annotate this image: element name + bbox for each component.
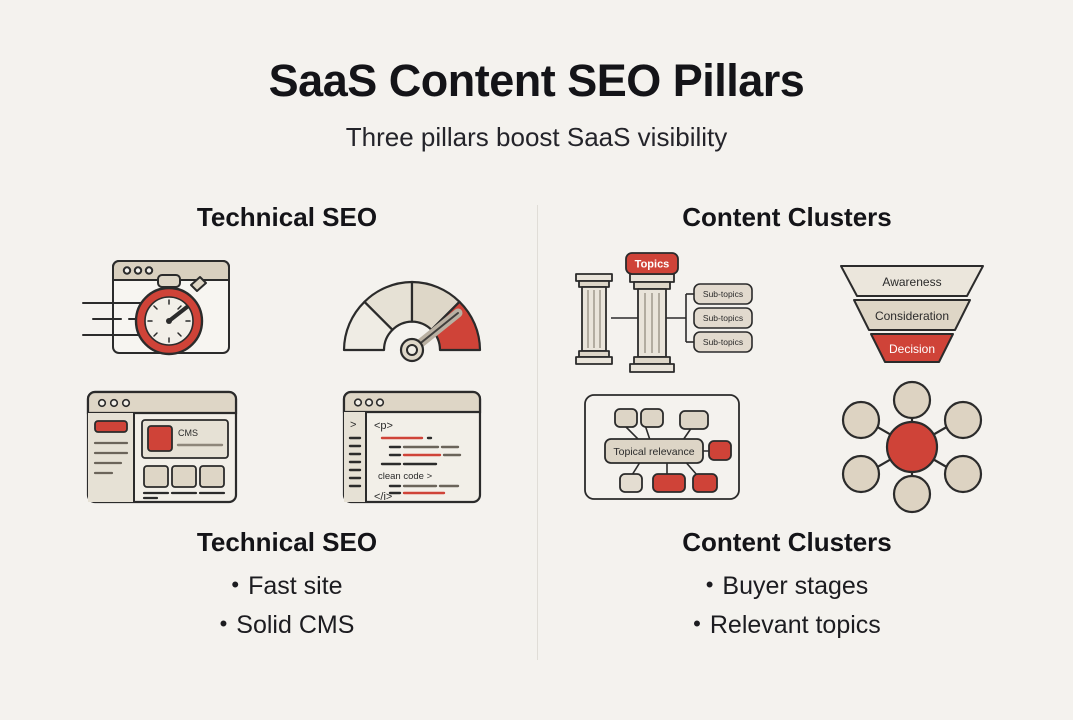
code-line-close-tag: </i> [374, 491, 392, 503]
topics-banner-label: Topics [635, 259, 670, 271]
bullet-list-right: Buyer stages Relevant topics [537, 566, 1037, 644]
illustration-hub-and-spoke-cluster [787, 384, 1037, 509]
illustration-grid-right: Topics Sub-topics Sub-topics Sub-topics [537, 248, 1037, 509]
bullet-item: Buyer stages [537, 566, 1037, 605]
infographic-canvas: SaaS Content SEO Pillars Three pillars b… [0, 0, 1073, 720]
code-line-open-tag: <p> [374, 420, 393, 432]
column-heading-right: Content Clusters [537, 200, 1037, 234]
sub-topic-label: Sub-topics [703, 289, 743, 299]
bullet-item: Solid CMS [37, 605, 537, 644]
illustration-page-speed-stopwatch [37, 248, 287, 378]
sub-topic-label: Sub-topics [703, 313, 743, 323]
column-footer-left: Technical SEO Fast site Solid CMS [37, 527, 537, 644]
bullet-item: Fast site [37, 566, 537, 605]
bullet-list-left: Fast site Solid CMS [37, 566, 537, 644]
code-gutter-caret: > [350, 419, 356, 431]
page-subtitle: Three pillars boost SaaS visibility [0, 122, 1073, 153]
illustration-clean-code-editor: > <p> [287, 384, 537, 509]
footer-title-left: Technical SEO [37, 527, 537, 558]
bullet-item: Relevant topics [537, 605, 1037, 644]
cms-card-label: CMS [178, 428, 198, 438]
funnel-stage-label-decision: Decision [889, 342, 935, 356]
column-footer-right: Content Clusters Buyer stages Relevant t… [537, 527, 1037, 644]
column-technical-seo: Technical SEO [37, 200, 537, 670]
illustration-topical-relevance-map: Topical relevance [537, 384, 787, 509]
illustration-pillar-topics-diagram: Topics Sub-topics Sub-topics Sub-topics [537, 248, 787, 378]
code-line-clean-code: clean code > [378, 471, 433, 482]
illustration-buyer-stage-funnel: Awareness Consideration Decision [787, 248, 1037, 378]
funnel-stage-label-consideration: Consideration [875, 309, 949, 323]
sub-topic-label: Sub-topics [703, 337, 743, 347]
page-title: SaaS Content SEO Pillars [0, 55, 1073, 107]
column-content-clusters: Content Clusters [537, 200, 1037, 670]
column-heading-left: Technical SEO [37, 200, 537, 234]
funnel-stage-label-awareness: Awareness [882, 275, 941, 289]
topical-relevance-label: Topical relevance [613, 446, 694, 458]
illustration-grid-left: CMS [37, 248, 537, 509]
footer-title-right: Content Clusters [537, 527, 1037, 558]
illustration-performance-gauge [287, 248, 537, 378]
illustration-cms-dashboard: CMS [37, 384, 287, 509]
